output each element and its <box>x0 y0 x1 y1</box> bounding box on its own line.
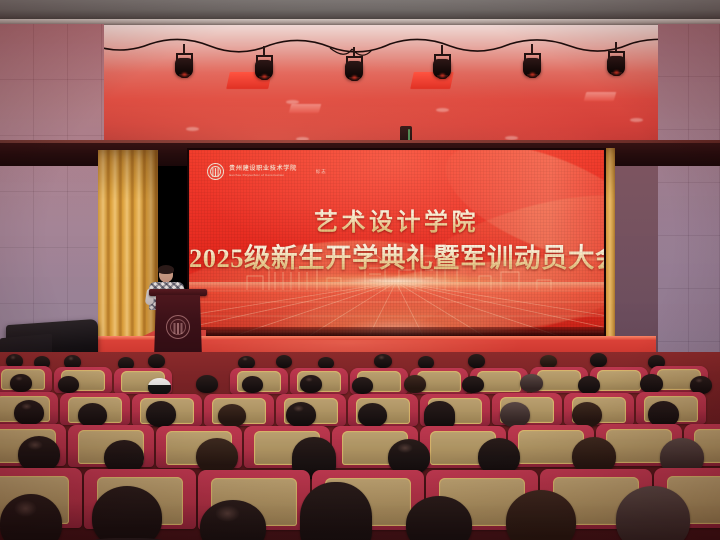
audience-head <box>196 438 238 474</box>
audience-area <box>0 352 720 540</box>
audience-head <box>276 355 292 368</box>
audience-head <box>590 353 607 367</box>
audience-head <box>10 374 32 392</box>
audience-head <box>358 403 387 427</box>
audience-head <box>404 375 426 393</box>
audience-head <box>352 377 373 394</box>
audience-head <box>300 482 372 540</box>
audience-head <box>218 404 246 427</box>
audience-head <box>242 376 263 393</box>
audience-head <box>146 401 176 427</box>
ceiling-light-dot <box>436 108 449 112</box>
audience-head <box>374 354 392 368</box>
audience-head <box>462 376 484 393</box>
audience-head <box>500 402 530 427</box>
ceiling-light-dot <box>630 118 643 122</box>
screen-pixel-texture <box>189 150 604 336</box>
audience-head <box>424 401 455 429</box>
ceiling-light-dot <box>286 100 299 104</box>
auditorium-scene: 贵州建设职业技术学院 Guizhou Polytechnic of Constr… <box>0 0 720 540</box>
audience-head <box>640 374 663 393</box>
school-emblem-icon <box>166 315 190 339</box>
ceiling-panel <box>584 92 617 101</box>
audience-head <box>14 400 44 425</box>
audience-head-with-cap <box>148 378 171 395</box>
audience-head <box>300 375 322 393</box>
audience-head <box>78 403 107 427</box>
speaking-podium <box>152 289 204 359</box>
proscenium-highlight <box>0 140 720 143</box>
audience-head <box>572 402 602 427</box>
audience-head <box>286 402 316 427</box>
audience-head <box>578 376 600 394</box>
audience-head <box>468 354 485 368</box>
ceiling-light-dot <box>186 127 199 131</box>
audience-head <box>148 354 165 368</box>
audience-head <box>58 376 79 393</box>
audience-head <box>18 436 60 472</box>
audience-head <box>196 375 218 393</box>
ceiling-lip <box>0 19 720 25</box>
audience-head <box>520 374 543 392</box>
ceiling-panel <box>289 104 322 113</box>
led-screen[interactable]: 贵州建设职业技术学院 Guizhou Polytechnic of Constr… <box>189 150 604 336</box>
audience-head <box>92 486 162 540</box>
